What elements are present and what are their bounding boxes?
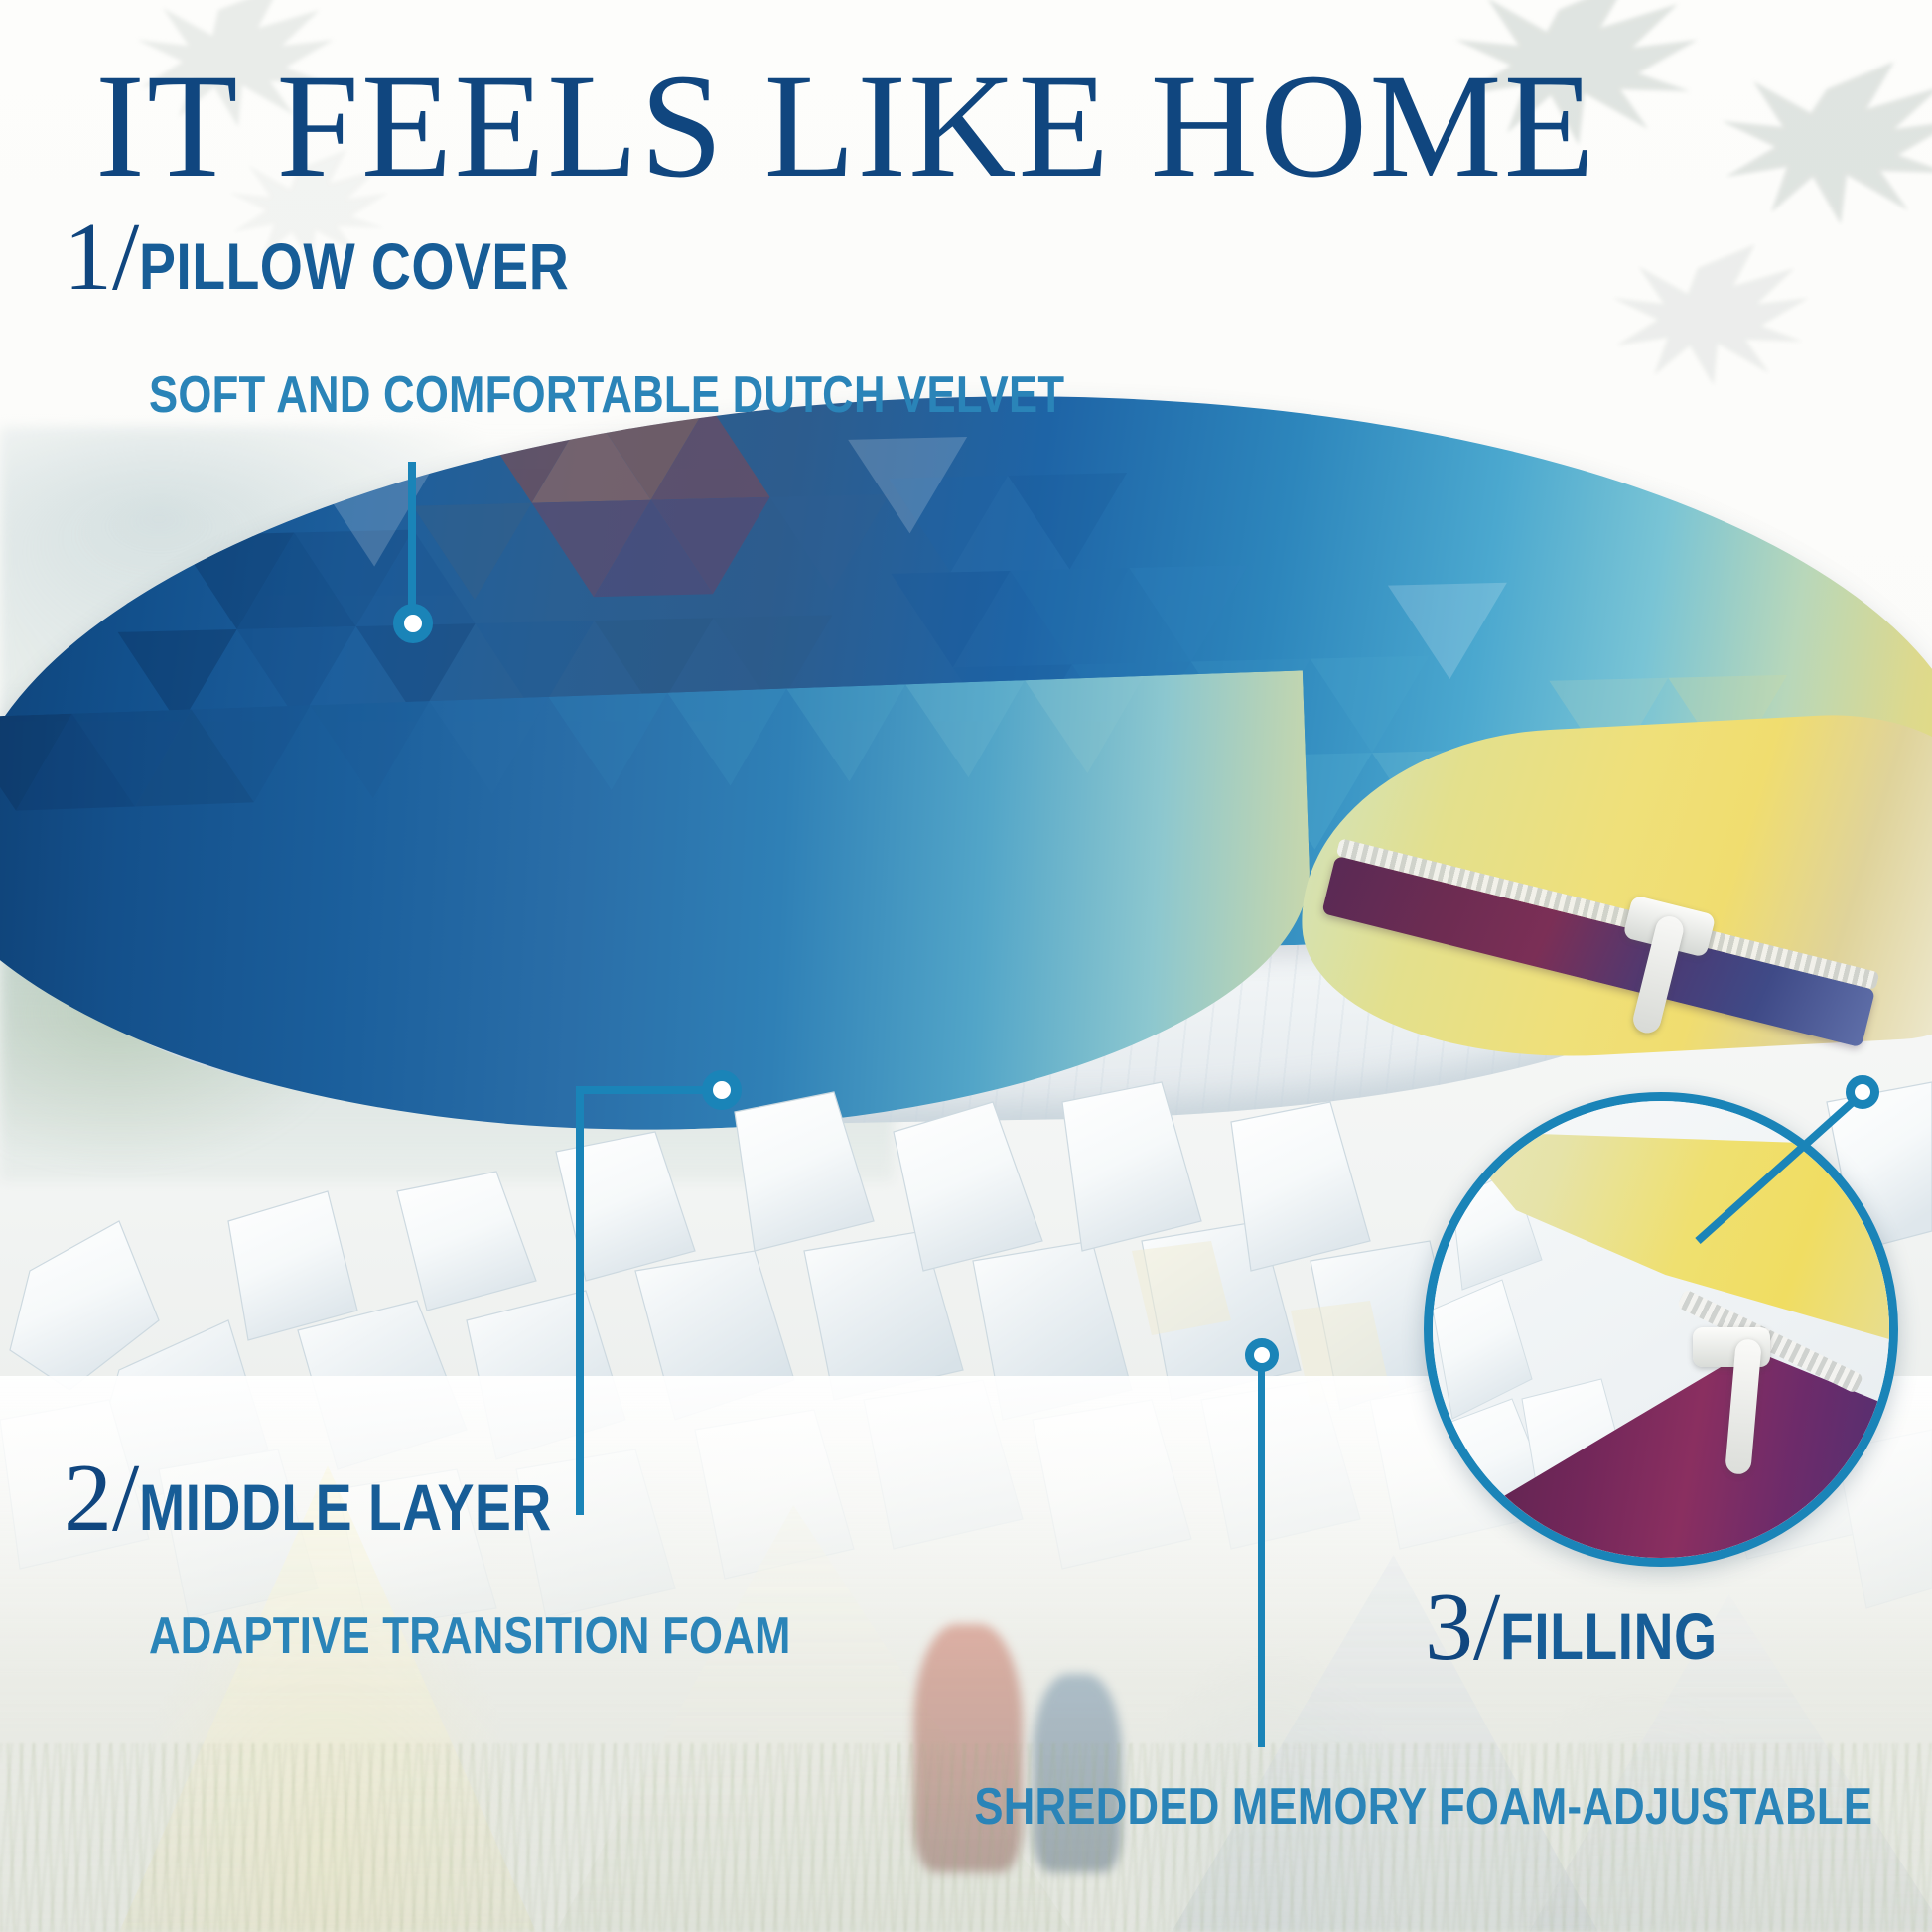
step-3-title: FILLING	[1500, 1598, 1718, 1674]
step-2-number: 2/	[64, 1449, 139, 1547]
callout-line-magnifier	[1688, 1072, 1916, 1251]
callout-line-1	[408, 462, 416, 621]
callout-marker-2	[702, 1070, 742, 1110]
callout-marker-3	[1245, 1338, 1279, 1372]
step-3-number: 3/	[1425, 1579, 1500, 1676]
step-1: 1/ PILLOW COVER	[64, 208, 651, 306]
callout-line-3	[1258, 1368, 1265, 1747]
grass-texture	[0, 1743, 1932, 1932]
callout-marker-zipper	[1846, 1075, 1879, 1109]
callout-marker-1	[393, 604, 433, 643]
step-3: 3/ FILLING	[1425, 1579, 1758, 1676]
page-title: IT FEELS LIKE HOME	[95, 52, 1596, 201]
callout-line-2-horizontal	[576, 1086, 717, 1094]
step-2-subtitle: ADAPTIVE TRANSITION FOAM	[149, 1606, 791, 1666]
step-2: 2/ MIDDLE LAYER	[64, 1449, 630, 1547]
step-1-number: 1/	[64, 208, 139, 306]
step-3-subtitle: SHREDDED MEMORY FOAM-ADJUSTABLE	[974, 1777, 1872, 1837]
step-2-title: MIDDLE LAYER	[139, 1469, 552, 1545]
infographic-canvas: IT FEELS LIKE HOME 1/ PILLOW COVER SOFT …	[0, 0, 1932, 1932]
step-1-subtitle: SOFT AND COMFORTABLE DUTCH VELVET	[149, 365, 1064, 425]
step-1-title: PILLOW COVER	[139, 228, 569, 304]
